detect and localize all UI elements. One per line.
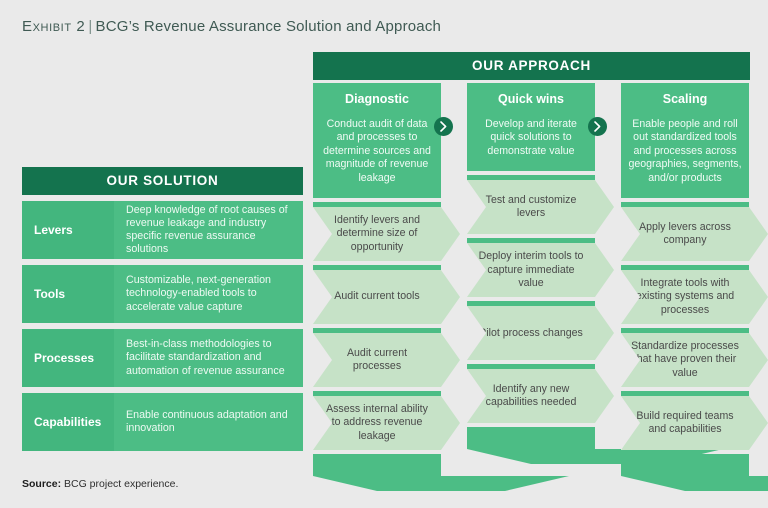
- solution-row: Capabilities Enable continuous adaptatio…: [22, 393, 303, 451]
- solution-row-text: Enable continuous adaptation and innovat…: [114, 393, 303, 451]
- approach-column-arrow-tail: [467, 427, 595, 461]
- solution-row: Processes Best-in-class methodologies to…: [22, 329, 303, 387]
- approach-band: Identify any new capabilities needed: [467, 364, 595, 423]
- chevron-right-circle-icon: [588, 117, 607, 136]
- approach-band: Test and customize levers: [467, 175, 595, 234]
- approach-column-subtitle: Conduct audit of data and processes to d…: [313, 116, 441, 198]
- our-solution-header: OUR SOLUTION: [22, 167, 303, 195]
- solution-row-label: Processes: [22, 329, 114, 387]
- chevron-right-circle-icon: [434, 117, 453, 136]
- title-separator: |: [85, 18, 95, 35]
- exhibit-label: Exhibit 2: [22, 18, 85, 35]
- approach-band: Pilot process changes: [467, 301, 595, 360]
- approach-band: Deploy interim tools to capture immediat…: [467, 238, 595, 297]
- approach-cell: Apply levers across company: [621, 207, 749, 261]
- our-solution-block: OUR SOLUTION Levers Deep knowledge of ro…: [22, 167, 303, 451]
- solution-row-text: Best-in-class methodologies to facilitat…: [114, 329, 303, 387]
- solution-row: Levers Deep knowledge of root causes of …: [22, 201, 303, 259]
- approach-band: Audit current tools: [313, 265, 441, 324]
- solution-row: Tools Customizable, next-generation tech…: [22, 265, 303, 323]
- approach-cell: Assess internal ability to address reven…: [313, 396, 441, 450]
- title-headline: BCG’s Revenue Assurance Solution and App…: [95, 18, 441, 35]
- approach-cell: Deploy interim tools to capture immediat…: [467, 243, 595, 297]
- approach-band: Apply levers across company: [621, 202, 749, 261]
- our-approach-header: OUR APPROACH: [313, 52, 750, 80]
- tail-body: [467, 427, 595, 449]
- arrow-down-icon: [621, 476, 768, 491]
- approach-column-subtitle: Develop and iterate quick solutions to d…: [467, 116, 595, 171]
- approach-cell: Standardize processes that have proven t…: [621, 333, 749, 387]
- approach-column-title: Scaling: [621, 83, 749, 116]
- approach-band: Assess internal ability to address reven…: [313, 391, 441, 450]
- solution-row-label: Capabilities: [22, 393, 114, 451]
- approach-cell: Audit current processes: [313, 333, 441, 387]
- approach-column-diagnostic: Diagnostic Conduct audit of data and pro…: [313, 83, 441, 488]
- approach-band: Audit current processes: [313, 328, 441, 387]
- tail-body: [313, 454, 441, 476]
- solution-row-text: Deep knowledge of root causes of revenue…: [114, 201, 303, 259]
- approach-band: Integrate tools with existing systems an…: [621, 265, 749, 324]
- approach-cell: Integrate tools with existing systems an…: [621, 270, 749, 324]
- approach-band: Identify levers and determine size of op…: [313, 202, 441, 261]
- approach-cell: Build required teams and capabilities: [621, 396, 749, 450]
- our-approach-block: OUR APPROACH Diagnostic Conduct audit of…: [313, 52, 750, 488]
- approach-cell: Identify levers and determine size of op…: [313, 207, 441, 261]
- solution-row-label: Levers: [22, 201, 114, 259]
- solution-row-label: Tools: [22, 265, 114, 323]
- approach-cell: Identify any new capabilities needed: [467, 369, 595, 423]
- approach-column-title: Diagnostic: [313, 83, 441, 116]
- approach-column-scaling: Scaling Enable people and roll out stand…: [621, 83, 749, 488]
- source-text: BCG project experience.: [64, 478, 178, 490]
- approach-column-quick-wins: Quick wins Develop and iterate quick sol…: [467, 83, 595, 488]
- approach-column-subtitle: Enable people and roll out standardized …: [621, 116, 749, 198]
- tail-body: [621, 454, 749, 476]
- approach-cell: Audit current tools: [313, 270, 441, 324]
- approach-column-title: Quick wins: [467, 83, 595, 116]
- approach-band: Standardize processes that have proven t…: [621, 328, 749, 387]
- approach-cell: Pilot process changes: [467, 306, 595, 360]
- source-label: Source:: [22, 478, 61, 490]
- approach-column-arrow-tail: [313, 454, 441, 488]
- solution-row-text: Customizable, next-generation technology…: [114, 265, 303, 323]
- page-title: Exhibit 2|BCG’s Revenue Assurance Soluti…: [22, 18, 441, 35]
- approach-column-arrow-tail: [621, 454, 749, 488]
- source-note: Source: BCG project experience.: [22, 478, 178, 490]
- approach-cell: Test and customize levers: [467, 180, 595, 234]
- approach-columns: Diagnostic Conduct audit of data and pro…: [313, 83, 750, 488]
- approach-band: Build required teams and capabilities: [621, 391, 749, 450]
